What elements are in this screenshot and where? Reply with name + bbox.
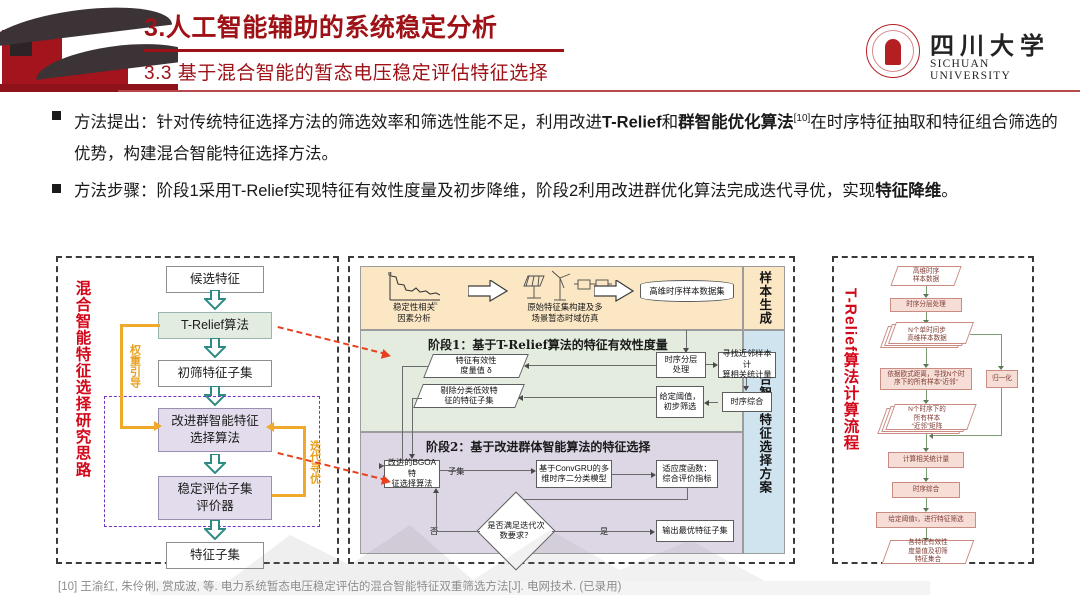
rnode-neighbor-matrix: N个时序下的 所有样本 “近邻”矩阵 xyxy=(882,404,972,434)
rnode-time-layering: 时序分层处理 xyxy=(890,298,962,312)
left-panel-vertical-title: 混合智能特征选择研究思路 xyxy=(74,280,90,478)
slide: 3.人工智能辅助的系统稳定分析 3.3 基于混合智能的暂态电压稳定评估特征选择 … xyxy=(0,0,1080,608)
header-divider xyxy=(118,90,1080,92)
arrowhead-icon xyxy=(524,363,529,369)
arrowhead-icon xyxy=(743,386,749,391)
arrowhead-icon xyxy=(704,400,709,406)
arrow-down-icon xyxy=(204,520,226,540)
stability-curve-icon: U t/s xyxy=(382,270,444,306)
arrowhead-icon xyxy=(713,362,718,368)
label-weight-guidance: 权重引导 xyxy=(128,344,140,388)
caption-original-feature-set: 原始特征集构建及多 场景暂态时域仿真 xyxy=(500,302,630,324)
page-subtitle: 3.3 基于混合智能的暂态电压稳定评估特征选择 xyxy=(144,58,754,85)
box-output-optimal-subset: 输出最优特征子集 xyxy=(656,520,734,542)
rnode-threshold-filter: 给定阈值τ，进行特征筛选 xyxy=(876,512,976,528)
arrow-down-icon xyxy=(204,290,226,310)
stage1-title: 阶段1：基于T-Relief算法的特征有效性度量 xyxy=(428,336,668,353)
bullet-marker-icon xyxy=(52,184,61,193)
slide-header: 3.人工智能辅助的系统稳定分析 3.3 基于混合智能的暂态电压稳定评估特征选择 … xyxy=(0,0,1080,92)
bullet-marker-icon xyxy=(52,111,61,120)
arrowhead-icon xyxy=(651,472,656,478)
diagram: 混合智能特征选择研究思路 候选特征 T-Relief算法 初筛特征子集 改进群智… xyxy=(56,256,1034,564)
right-panel-vertical-title: T-Relief算法计算流程 xyxy=(842,288,858,451)
para-pruned-subset: 剔除分类低效特 征的特征子集 xyxy=(418,384,520,408)
box-threshold-filter: 给定阈值， 初步筛选 xyxy=(656,386,704,418)
feedback-arrowhead-iter xyxy=(266,422,274,432)
bullet-list: 方法提出：针对传统特征选择方法的筛选效率和筛选性能不足，利用改进T-Relief… xyxy=(52,103,1062,213)
para-feature-validity: 特征有效性 度量值 δ xyxy=(428,354,524,378)
connector xyxy=(412,398,422,399)
dataset-cylinder: 高维时序样本数据集 xyxy=(640,280,734,302)
seal-icon xyxy=(866,24,920,78)
list-item: 方法提出：针对传统特征选择方法的筛选效率和筛选性能不足，利用改进T-Relief… xyxy=(52,103,1062,170)
node-feature-subset: 特征子集 xyxy=(166,542,264,569)
connector xyxy=(686,330,687,350)
node-improved-swarm-algorithm: 改进群智能特征 选择算法 xyxy=(158,408,272,452)
logo-chinese-name: 四川大学 xyxy=(930,26,1050,61)
box-time-layering: 时序分层 处理 xyxy=(656,352,706,378)
flow-arrow-1-icon xyxy=(468,280,508,302)
connector xyxy=(402,366,428,367)
sideband-label-sample-generation: 样本生成 xyxy=(758,271,771,325)
connector xyxy=(380,465,402,466)
list-item: 方法步骤：阶段1采用T-Relief实现特征有效性度量及初步降维，阶段2利用改进… xyxy=(52,176,1062,207)
arrowhead-icon xyxy=(650,529,655,535)
footer-reference: [10] 王渝红, 朱伶俐, 赏成波, 等. 电力系统暂态电压稳定评估的混合智能… xyxy=(58,578,622,594)
feedback-line-weight-top xyxy=(120,324,160,327)
rnode-output-validity: 各特征有效性 度量值及初筛 特征集合 xyxy=(886,540,970,564)
svg-text:U: U xyxy=(388,272,392,278)
connector xyxy=(516,499,688,500)
title-underline xyxy=(144,49,564,52)
mid-panel: 样本生成 混合智能特征选择方案 U t/s 稳定性相关 因素分析 xyxy=(348,256,795,564)
node-t-relief-algorithm: T-Relief算法 xyxy=(158,312,272,339)
arrow-down-icon xyxy=(204,338,226,358)
node-candidate-features: 候选特征 xyxy=(166,266,264,293)
flow-arrow-2-icon xyxy=(594,280,634,302)
arrow-down-icon xyxy=(204,454,226,474)
arrowhead-icon xyxy=(531,468,536,474)
connector xyxy=(402,366,403,464)
connector xyxy=(1001,334,1002,368)
feedback-line-weight-bottom xyxy=(120,426,158,429)
connector xyxy=(436,492,437,532)
connector xyxy=(708,402,718,403)
arrowhead-icon xyxy=(433,488,439,493)
connector xyxy=(524,397,656,398)
bullet-text-2: 方法步骤：阶段1采用T-Relief实现特征有效性度量及初步降维，阶段2利用改进… xyxy=(74,176,958,207)
feedback-line-weight-vert xyxy=(120,324,123,428)
left-panel: 混合智能特征选择研究思路 候选特征 T-Relief算法 初筛特征子集 改进群智… xyxy=(56,256,339,564)
logo-english-name: SICHUAN UNIVERSITY xyxy=(930,58,1062,82)
connector xyxy=(612,474,652,475)
feedback-arrowhead-weight xyxy=(154,421,162,431)
box-fitness-function: 适应度函数： 综合评价指标 xyxy=(656,460,718,488)
rnode-time-synthesis: 时序综合 xyxy=(892,482,960,498)
arrowhead-icon xyxy=(409,454,415,459)
connector xyxy=(970,334,1002,335)
connector xyxy=(528,365,656,366)
connector xyxy=(412,398,413,458)
connector xyxy=(1001,388,1002,436)
rnode-compute-stats: 计算相关统计量 xyxy=(888,452,964,468)
connector xyxy=(436,531,480,532)
arrowhead-icon xyxy=(518,395,523,401)
connector xyxy=(440,470,532,471)
decision-iteration-check: 是否满足迭代次 数要求？ xyxy=(478,510,554,552)
feedback-line-iter-bottom xyxy=(272,494,306,497)
box-find-neighbors: 寻找近邻样本计 算相关统计量 xyxy=(718,352,776,378)
feedback-line-iter-top xyxy=(274,426,304,429)
caption-stability-analysis: 稳定性相关 因素分析 xyxy=(372,302,456,324)
page-title-block: 3.人工智能辅助的系统稳定分析 3.3 基于混合智能的暂态电压稳定评估特征选择 xyxy=(144,8,754,85)
node-initial-feature-subset: 初筛特征子集 xyxy=(158,360,272,387)
arrowhead-icon xyxy=(998,366,1004,370)
stage2-title: 阶段2：基于改进群体智能算法的特征选择 xyxy=(426,438,650,455)
rnode-input-data: 高维时序 样本数据 xyxy=(894,266,958,286)
bullet-text-1: 方法提出：针对传统特征选择方法的筛选效率和筛选性能不足，利用改进T-Relief… xyxy=(74,103,1062,170)
box-time-synthesis: 时序综合 xyxy=(722,392,772,412)
rnode-normalize: 归一化 xyxy=(986,370,1018,388)
page-title: 3.人工智能辅助的系统稳定分析 xyxy=(144,8,754,47)
sideband-sample-generation: 样本生成 xyxy=(743,266,785,330)
box-convgru-model: 基于ConvGRU的多 维时序二分类模型 xyxy=(536,460,612,488)
right-panel: T-Relief算法计算流程 高维时序 样本数据 时序分层处理 N个单时间步 高… xyxy=(832,256,1034,564)
rnode-n-samples: N个单时间步 高维样本数据 xyxy=(884,322,970,348)
connector xyxy=(552,531,652,532)
node-stability-evaluator: 稳定评估子集 评价器 xyxy=(158,476,272,520)
university-logo: 四川大学 SICHUAN UNIVERSITY xyxy=(866,24,1062,80)
connector xyxy=(932,435,1002,436)
rnode-distance-neighbors: 依据欧式距离，寻找N个时 序下的所有样本“近邻” xyxy=(880,368,972,390)
